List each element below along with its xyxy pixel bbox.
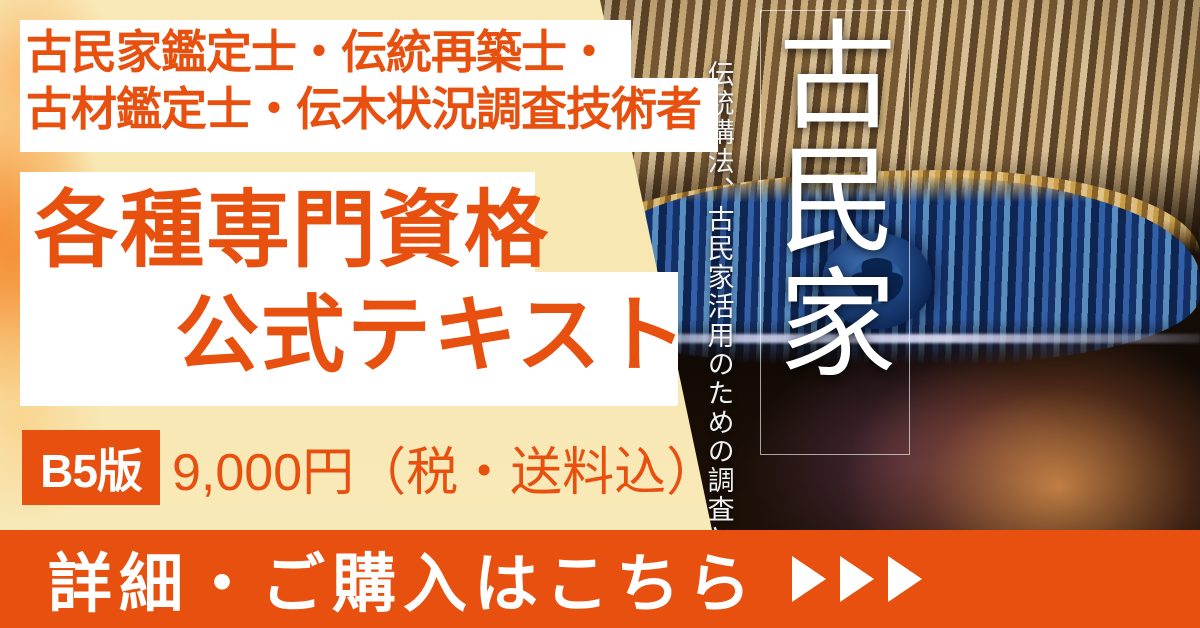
main-headline-line1: 各種専門資格 <box>20 178 690 283</box>
triangle-right-icon <box>792 556 826 602</box>
top-headline-line2: 古材鑑定士・伝木状況調査技術者 <box>26 83 701 135</box>
cta-bar[interactable]: 詳細・ご購入はこちら <box>0 530 1200 628</box>
cta-label: 詳細・ご購入はこちら <box>48 533 758 625</box>
top-headline: 古民家鑑定士・伝統再築士・ 古材鑑定士・伝木状況調査技術者 <box>20 20 720 152</box>
main-headline: 各種専門資格公式テキスト <box>20 178 690 408</box>
format-badge: B5版 <box>22 430 160 505</box>
triangle-right-icon <box>888 556 922 602</box>
cta-arrow-group <box>792 556 922 602</box>
top-headline-line1: 古民家鑑定士・伝統再築士・ <box>26 26 611 78</box>
book-cover-title: 古民家 <box>775 14 895 386</box>
triangle-right-icon <box>840 556 874 602</box>
main-headline-line2: 公式テキスト <box>20 283 690 388</box>
promo-banner: 古民家 伝統構法、古民家活用のための調査と再生の 古民家鑑定士・伝統再築士・ 古… <box>0 0 1200 628</box>
price-text: 9,000円（税・送料込） <box>172 430 718 505</box>
